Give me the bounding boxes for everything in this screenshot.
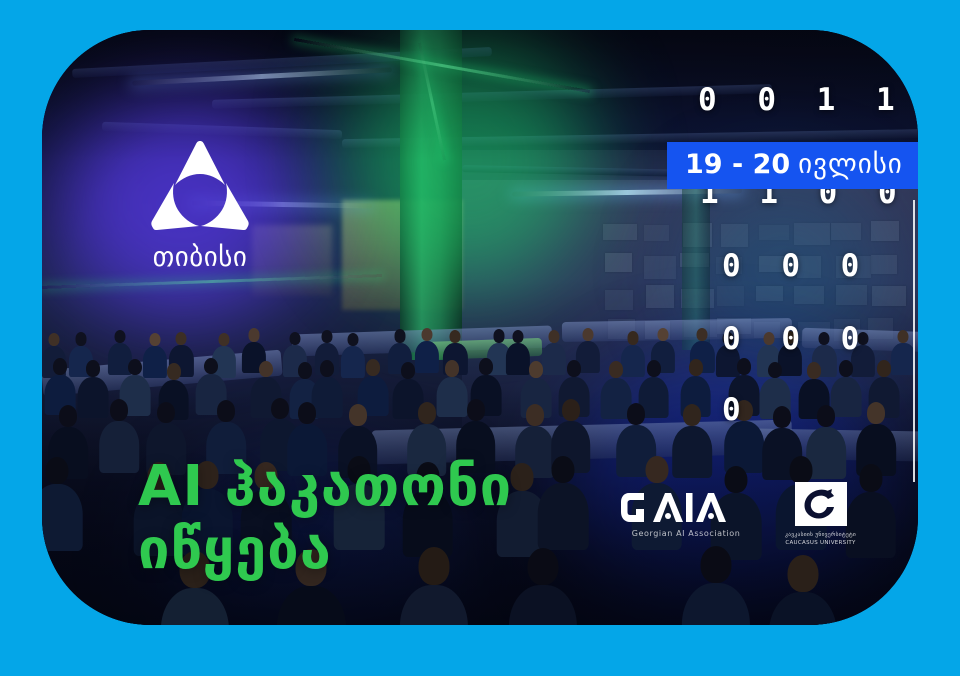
person-head (395, 329, 406, 342)
person-body (161, 588, 229, 625)
person-head (513, 330, 524, 343)
person-head (700, 546, 731, 583)
person-head (42, 554, 51, 591)
binary-row: 0 0 0 (722, 324, 908, 355)
audience-person (682, 546, 750, 625)
person-head (582, 328, 593, 341)
person-head (259, 361, 273, 378)
gaia-subtitle: Georgian AI Association (621, 529, 751, 538)
person-body (42, 591, 70, 625)
person-head (347, 333, 358, 346)
person-head (422, 328, 433, 341)
person-head (787, 555, 818, 592)
person-head (320, 360, 334, 377)
person-head (298, 402, 316, 424)
binary-row: 0 0 0 (722, 251, 908, 282)
person-head (167, 363, 181, 380)
person-head (176, 332, 187, 345)
person-head (128, 359, 142, 376)
person-head (110, 399, 128, 421)
person-head (627, 403, 645, 425)
person-head (204, 358, 218, 375)
caucasus-university-mark-icon (795, 482, 847, 526)
person-head (217, 400, 235, 422)
gaia-logo: Georgian AI Association (621, 490, 751, 538)
person-body (682, 583, 750, 625)
photo-card: თიბისი 0 0 1 1 1 1 0 0 0 0 0 0 0 0 0 19 … (42, 30, 918, 625)
binary-decoration: 0 0 1 1 1 1 0 0 0 0 0 0 0 0 0 (692, 85, 908, 426)
binary-row: 0 (722, 395, 908, 426)
headline-line-2: იწყება (138, 518, 512, 581)
caucasus-university-logo: კავკასიის უნივერსიტეტი CAUCASUS UNIVERSI… (785, 482, 856, 548)
page-title: AI ჰაკათონი იწყება (138, 455, 512, 582)
person-head (450, 330, 461, 343)
cu-subtitle-en: CAUCASUS UNIVERSITY (785, 539, 856, 547)
audience-person (42, 457, 82, 551)
person-head (401, 362, 415, 379)
person-body (509, 585, 577, 625)
person-head (49, 333, 60, 346)
cu-swirl-icon (801, 487, 841, 521)
person-head (609, 361, 623, 378)
person-head (46, 457, 69, 485)
person-body (277, 586, 345, 625)
audience-person (42, 554, 70, 625)
person-head (289, 332, 300, 345)
person-head (526, 404, 544, 426)
vertical-accent-line (913, 200, 915, 482)
person-head (552, 456, 575, 484)
tbc-logo: თიბისი (130, 138, 270, 271)
person-body (769, 592, 837, 625)
person-head (321, 330, 332, 343)
tbc-triangle-logo-icon (145, 138, 255, 234)
person-head (53, 358, 67, 375)
binary-row: 0 0 1 1 (698, 85, 908, 116)
audience-person (538, 456, 589, 550)
person-head (75, 332, 86, 345)
person-body (400, 585, 468, 625)
person-head (529, 361, 543, 378)
headline-line-1: AI ჰაკათონი (138, 454, 512, 519)
gaia-wordmark-icon (621, 490, 751, 524)
person-head (298, 362, 312, 379)
person-head (149, 333, 160, 346)
person-head (657, 328, 668, 341)
tbc-wordmark: თიბისი (130, 244, 270, 271)
person-body (538, 483, 589, 550)
person-head (366, 359, 380, 376)
person-head (789, 456, 812, 484)
person-head (627, 331, 638, 344)
person-head (645, 456, 668, 484)
person-head (445, 360, 459, 377)
person-head (157, 402, 175, 424)
person-body (42, 484, 82, 551)
person-head (548, 330, 559, 343)
person-head (418, 402, 436, 424)
audience-person (769, 555, 837, 625)
person-head (59, 405, 77, 427)
person-head (562, 399, 580, 421)
person-head (479, 358, 493, 375)
date-month: ივლისი (798, 149, 903, 180)
date-banner: 19 - 20ივლისი (667, 142, 918, 189)
sponsor-logos: Georgian AI Association კავკასიის უნივერ… (621, 482, 856, 548)
poster-canvas: თიბისი 0 0 1 1 1 1 0 0 0 0 0 0 0 0 0 19 … (0, 0, 960, 676)
person-head (218, 333, 229, 346)
audience-person (509, 548, 577, 625)
person-head (248, 328, 259, 341)
person-head (511, 463, 534, 491)
person-head (528, 548, 559, 585)
person-head (567, 360, 581, 377)
person-head (647, 360, 661, 377)
person-head (349, 404, 367, 426)
person-head (494, 329, 505, 342)
person-head (859, 464, 882, 492)
cu-subtitle-ka: კავკასიის უნივერსიტეტი (785, 531, 856, 539)
date-range: 19 - 20 (685, 149, 790, 180)
person-head (86, 360, 100, 377)
person-head (467, 399, 485, 421)
person-head (114, 330, 125, 343)
